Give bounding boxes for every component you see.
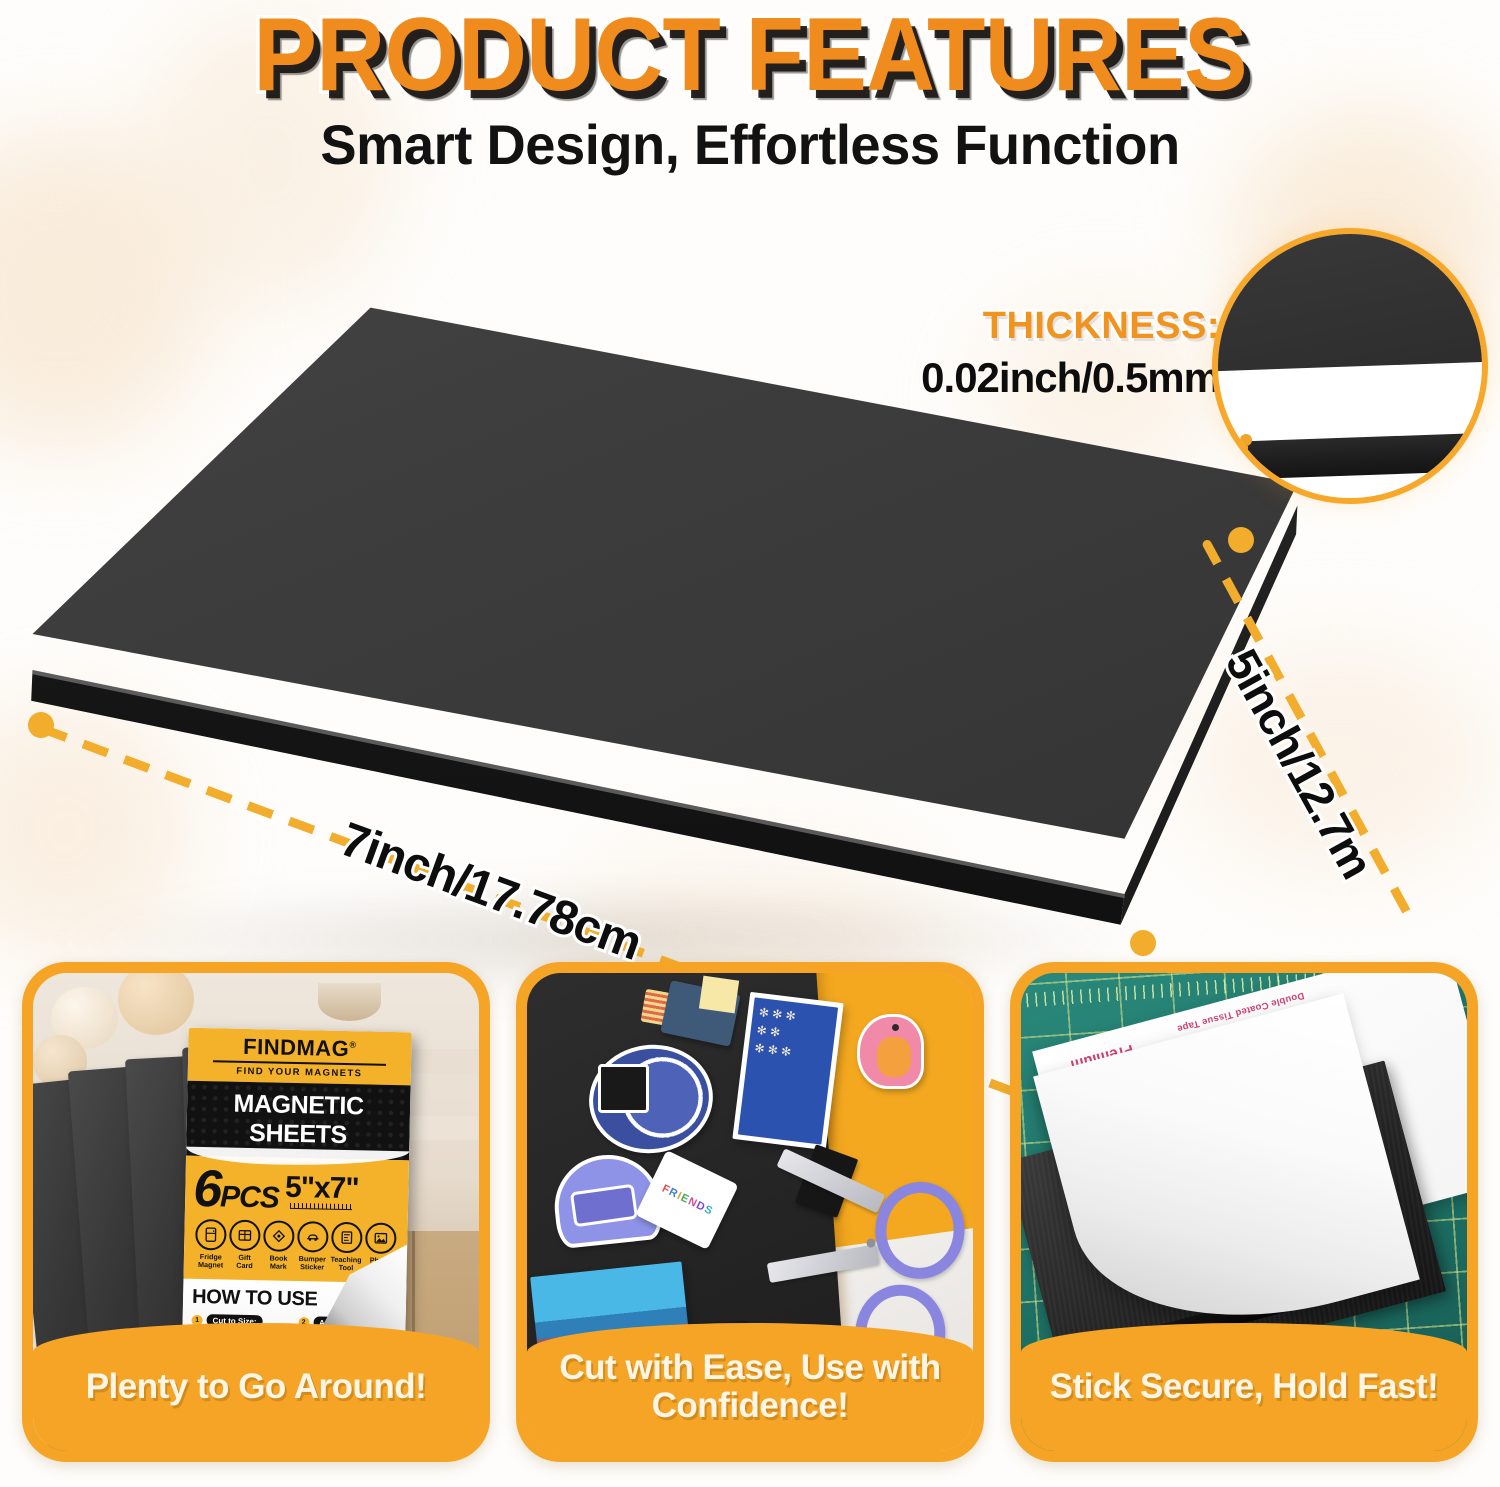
use-case-gift-card: GiftCard <box>227 1220 262 1271</box>
page-subtitle: Smart Design, Effortless Function <box>23 112 1478 177</box>
sticky-note <box>699 975 739 1013</box>
package-size: 5"x7" <box>284 1174 358 1215</box>
bumper-sticker-icon <box>297 1221 329 1253</box>
header: PRODUCT FEATURES Smart Design, Effortles… <box>0 0 1500 177</box>
thickness-callout: THICKNESS: 0.02inch/0.5mm <box>880 305 1220 402</box>
brand-tagline: FIND YOUR MAGNETS <box>187 1065 410 1081</box>
product-name: MAGNETIC SHEETS <box>233 1090 364 1149</box>
feature-panel-cut[interactable]: FRIENDS <box>516 962 984 1462</box>
panel-caption-stick: Stick Secure, Hold Fast! <box>1021 1323 1467 1451</box>
feature-panel-stick[interactable]: Premium Double Coated Tissue Tape Premiu… <box>1010 962 1478 1462</box>
panel-image-cut: FRIENDS <box>527 973 973 1451</box>
gift-card-icon <box>229 1220 261 1252</box>
use-case-fridge-magnet: FridgeMagnet <box>193 1219 228 1270</box>
panel-image-plenty: FINDMAG® FIND YOUR MAGNETS MAGNETIC SHEE… <box>33 973 479 1451</box>
feature-panels: FINDMAG® FIND YOUR MAGNETS MAGNETIC SHEE… <box>0 962 1500 1487</box>
panel-caption-cut: Cut with Ease, Use with Confidence! <box>527 1323 973 1451</box>
dimension-endpoint-dot <box>28 712 54 738</box>
package-brand-bar: FINDMAG® FIND YOUR MAGNETS <box>187 1028 411 1086</box>
fridge-magnet-icon <box>195 1219 227 1251</box>
feature-panel-plenty[interactable]: FINDMAG® FIND YOUR MAGNETS MAGNETIC SHEE… <box>22 962 490 1462</box>
dinosaur-sticker <box>848 997 933 1093</box>
thickness-label: THICKNESS: <box>880 305 1220 348</box>
scissors-handle <box>872 1179 968 1282</box>
thickness-marker-icon <box>1240 434 1252 480</box>
framed-print <box>732 992 843 1150</box>
scissors-pivot <box>866 1238 876 1248</box>
panel-image-stick: Premium Double Coated Tissue Tape Premiu… <box>1021 973 1467 1451</box>
pendant-lamp <box>318 983 380 1021</box>
photo-display-icon <box>364 1222 396 1254</box>
brand-name: FINDMAG® <box>188 1035 411 1062</box>
dimension-endpoint-dot <box>1228 527 1254 553</box>
panel-caption-plenty: Plenty to Go Around! <box>33 1323 479 1451</box>
inset-sheet-edge <box>1245 431 1488 479</box>
use-case-teaching-tool: TeachingTool <box>329 1222 364 1273</box>
thickness-value: 0.02inch/0.5mm <box>880 354 1220 402</box>
piece-count: 6PCS <box>193 1168 279 1212</box>
teaching-tool-icon <box>330 1222 362 1254</box>
ruler-icon <box>290 1203 352 1210</box>
page-title: PRODUCT FEATURES <box>60 6 1440 106</box>
use-case-bumper-sticker: BumperSticker <box>295 1221 330 1272</box>
dimension-endpoint-dot <box>1130 930 1156 956</box>
thickness-zoom-inset <box>1212 228 1488 504</box>
square-magnet <box>598 1064 649 1113</box>
scissors-blade <box>767 1244 880 1283</box>
use-case-book-mark: BookMark <box>261 1220 296 1271</box>
book-mark-icon <box>263 1220 295 1252</box>
infographic-root: PRODUCT FEATURES Smart Design, Effortles… <box>0 0 1500 1487</box>
